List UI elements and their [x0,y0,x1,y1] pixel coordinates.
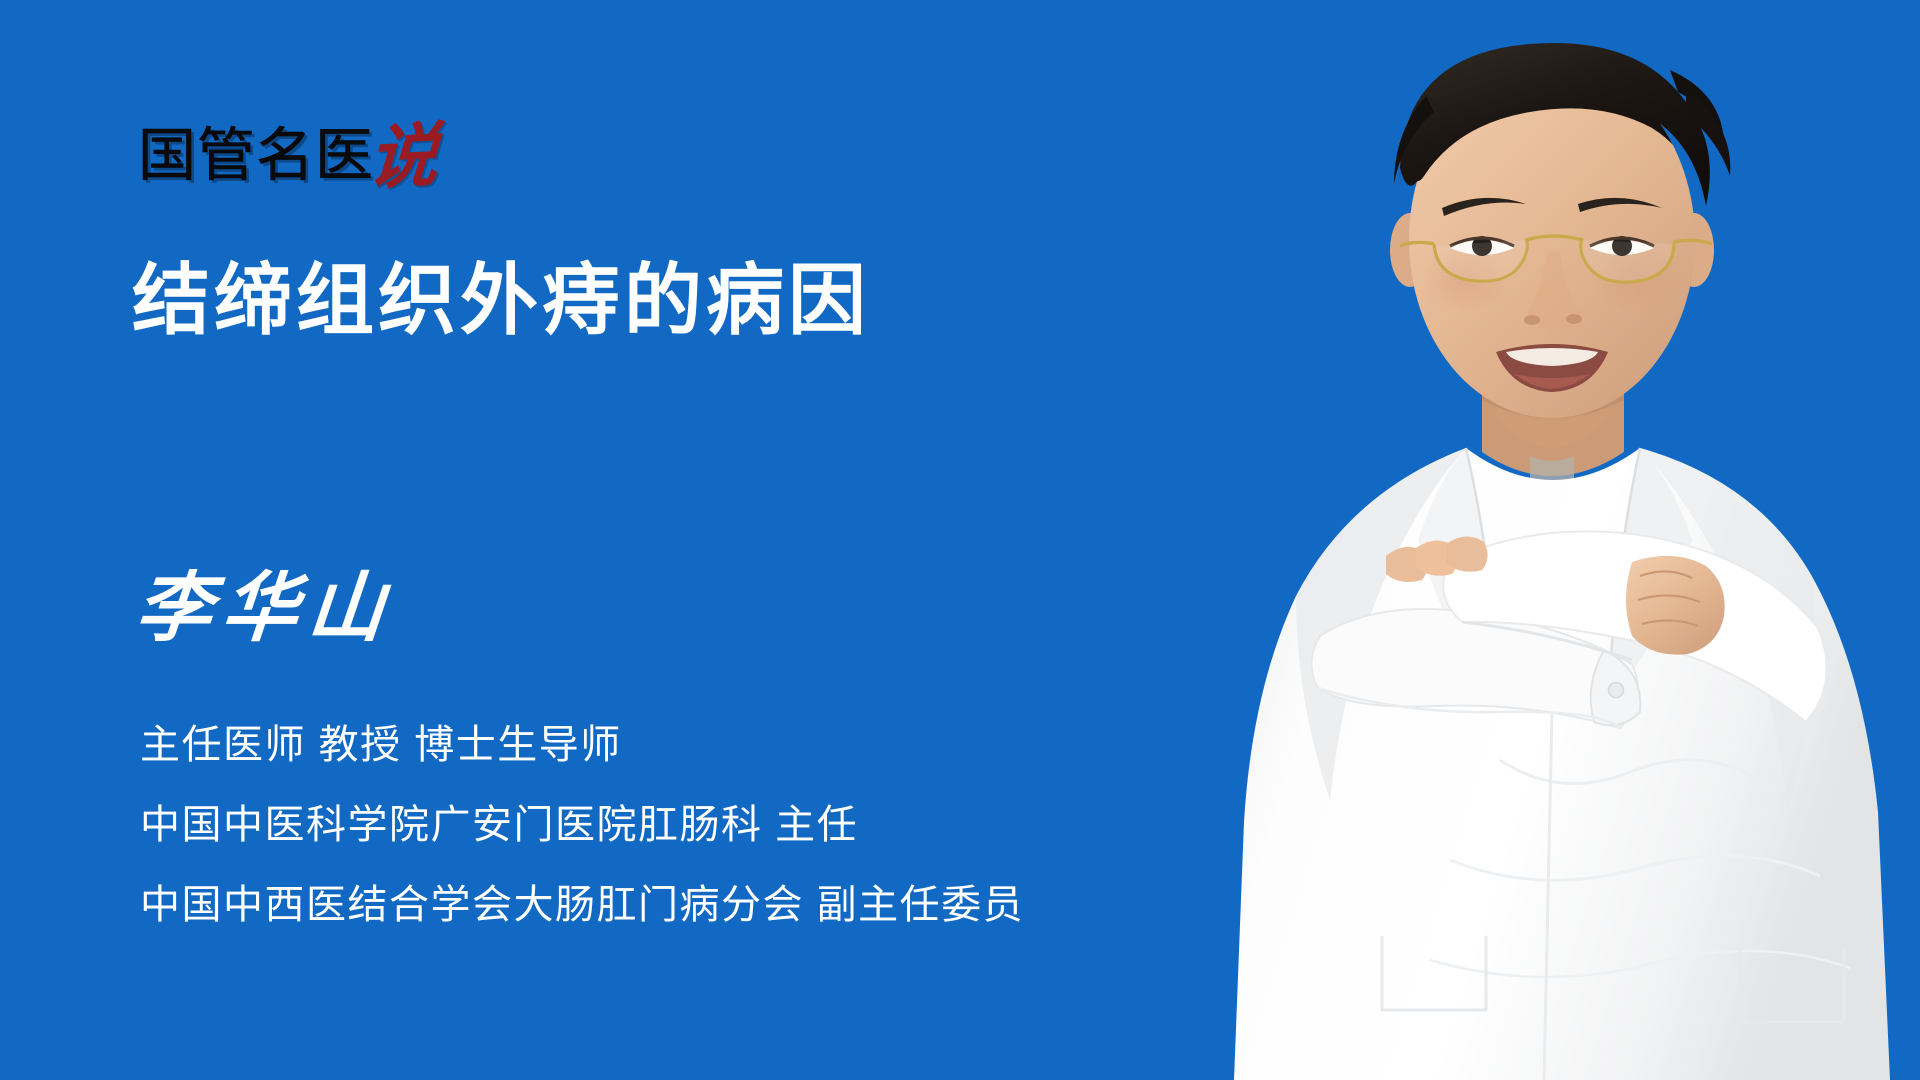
hair [1406,43,1703,196]
finger-2 [1416,540,1458,575]
eye-white-right [1590,240,1654,255]
chin-shadow [1490,404,1614,448]
glasses-lens-left [1434,238,1527,281]
ear-right [1674,213,1714,287]
coat-fold-2 [1450,856,1820,881]
forearm-left [1311,609,1637,728]
glasses-temple-right [1674,240,1712,244]
cuff-button-left [1609,683,1624,698]
program-logo-accent-text: 说 [366,122,440,192]
forearm-right [1443,531,1826,722]
nostril-left [1524,315,1540,325]
coat-shadow-right [1640,448,1814,812]
teeth [1506,348,1598,366]
badge-swoosh [1644,622,1696,630]
badge-ring-outer [1626,560,1714,648]
coat-lapel-edge-left [1466,448,1500,700]
shirt-button-2 [1545,637,1559,651]
coat-pocket-left [1382,936,1486,1010]
neck [1482,348,1624,476]
hand-right [1626,556,1725,655]
coat-lapel-right [1608,448,1692,700]
eyeglasses [1400,236,1712,282]
pupil-right [1612,236,1632,256]
arm-fold-line [1462,622,1632,660]
program-logo: 国管名医 说 [138,112,438,184]
hair-strand-1 [1670,70,1724,140]
coat-fold-3 [1430,951,1850,977]
eyelid-right [1590,238,1654,246]
eye-white-left [1450,240,1514,255]
sleeve-fold-line [1318,688,1620,728]
eyebrow-left [1442,198,1526,216]
glasses-temple-left [1400,242,1434,246]
eyelid-left [1450,238,1514,246]
program-logo-main-text: 国管名医 [138,126,374,184]
cheek-right [1594,246,1682,314]
coat-pocket-right [1740,948,1844,1022]
hair-strand-3 [1394,96,1434,184]
coat-shadow-left [1296,448,1466,800]
mouth [1496,344,1608,392]
presenter-name: 李华山 [133,570,398,646]
badge-map-china [1650,590,1694,622]
credential-line-3: 中国中西医结合学会大肠肛门病分会 副主任委员 [140,882,1024,928]
coat-lapel-left [1418,448,1500,700]
glasses-glare-left [1436,240,1527,280]
hair-strand-2 [1686,92,1730,176]
shirt [1434,452,1670,700]
glasses-glare-right [1582,240,1672,281]
finger-1 [1386,547,1428,582]
knuckle-line-2 [1638,595,1700,602]
presenter-credentials: 主任医师 教授 博士生导师 中国中医科学院广安门医院肛肠科 主任 中国中西医结合… [140,722,1024,928]
slide-title: 结缔组织外痔的病因 [132,257,870,344]
nose [1526,252,1582,328]
knuckle-line-3 [1642,620,1698,626]
eyebrow-right [1578,198,1662,212]
eyes-group [1450,236,1654,256]
cheek-left [1422,246,1510,314]
glasses-lens-right [1581,238,1674,282]
shirt-button-1 [1545,549,1559,563]
badge-emblem-dot [1661,583,1675,597]
credential-line-2: 中国中医科学院广安门医院肛肠科 主任 [140,802,1024,848]
hospital-badge [1626,560,1714,648]
nostril-right [1566,314,1582,324]
coat-cuff-left [1591,650,1641,725]
neck-shadow [1482,348,1624,418]
face [1409,62,1695,418]
ear-left [1390,213,1430,287]
hand-left-fingers [1386,536,1488,582]
finger-3 [1446,536,1488,571]
badge-ring-inner [1637,571,1703,637]
knuckle-line-1 [1640,571,1692,578]
shirt-placket [1530,456,1574,700]
hair-group [1406,43,1703,196]
coat-center-seam [1544,712,1552,1080]
hair-top [1400,43,1710,206]
pupil-left [1472,236,1492,256]
doctor-portrait-image [1200,0,1920,1080]
glasses-bridge [1526,236,1582,240]
lab-coat [1234,448,1890,1080]
credential-line-1: 主任医师 教授 博士生导师 [140,722,1024,768]
doctor-portrait-illustration [1200,0,1920,1080]
presentation-slide: 国管名医 说 结缔组织外痔的病因 李华山 主任医师 教授 博士生导师 中国中医科… [0,0,1920,1080]
coat-lapel-edge-right [1608,448,1640,700]
coat-fold-1 [1500,760,1760,784]
tongue [1514,374,1590,389]
